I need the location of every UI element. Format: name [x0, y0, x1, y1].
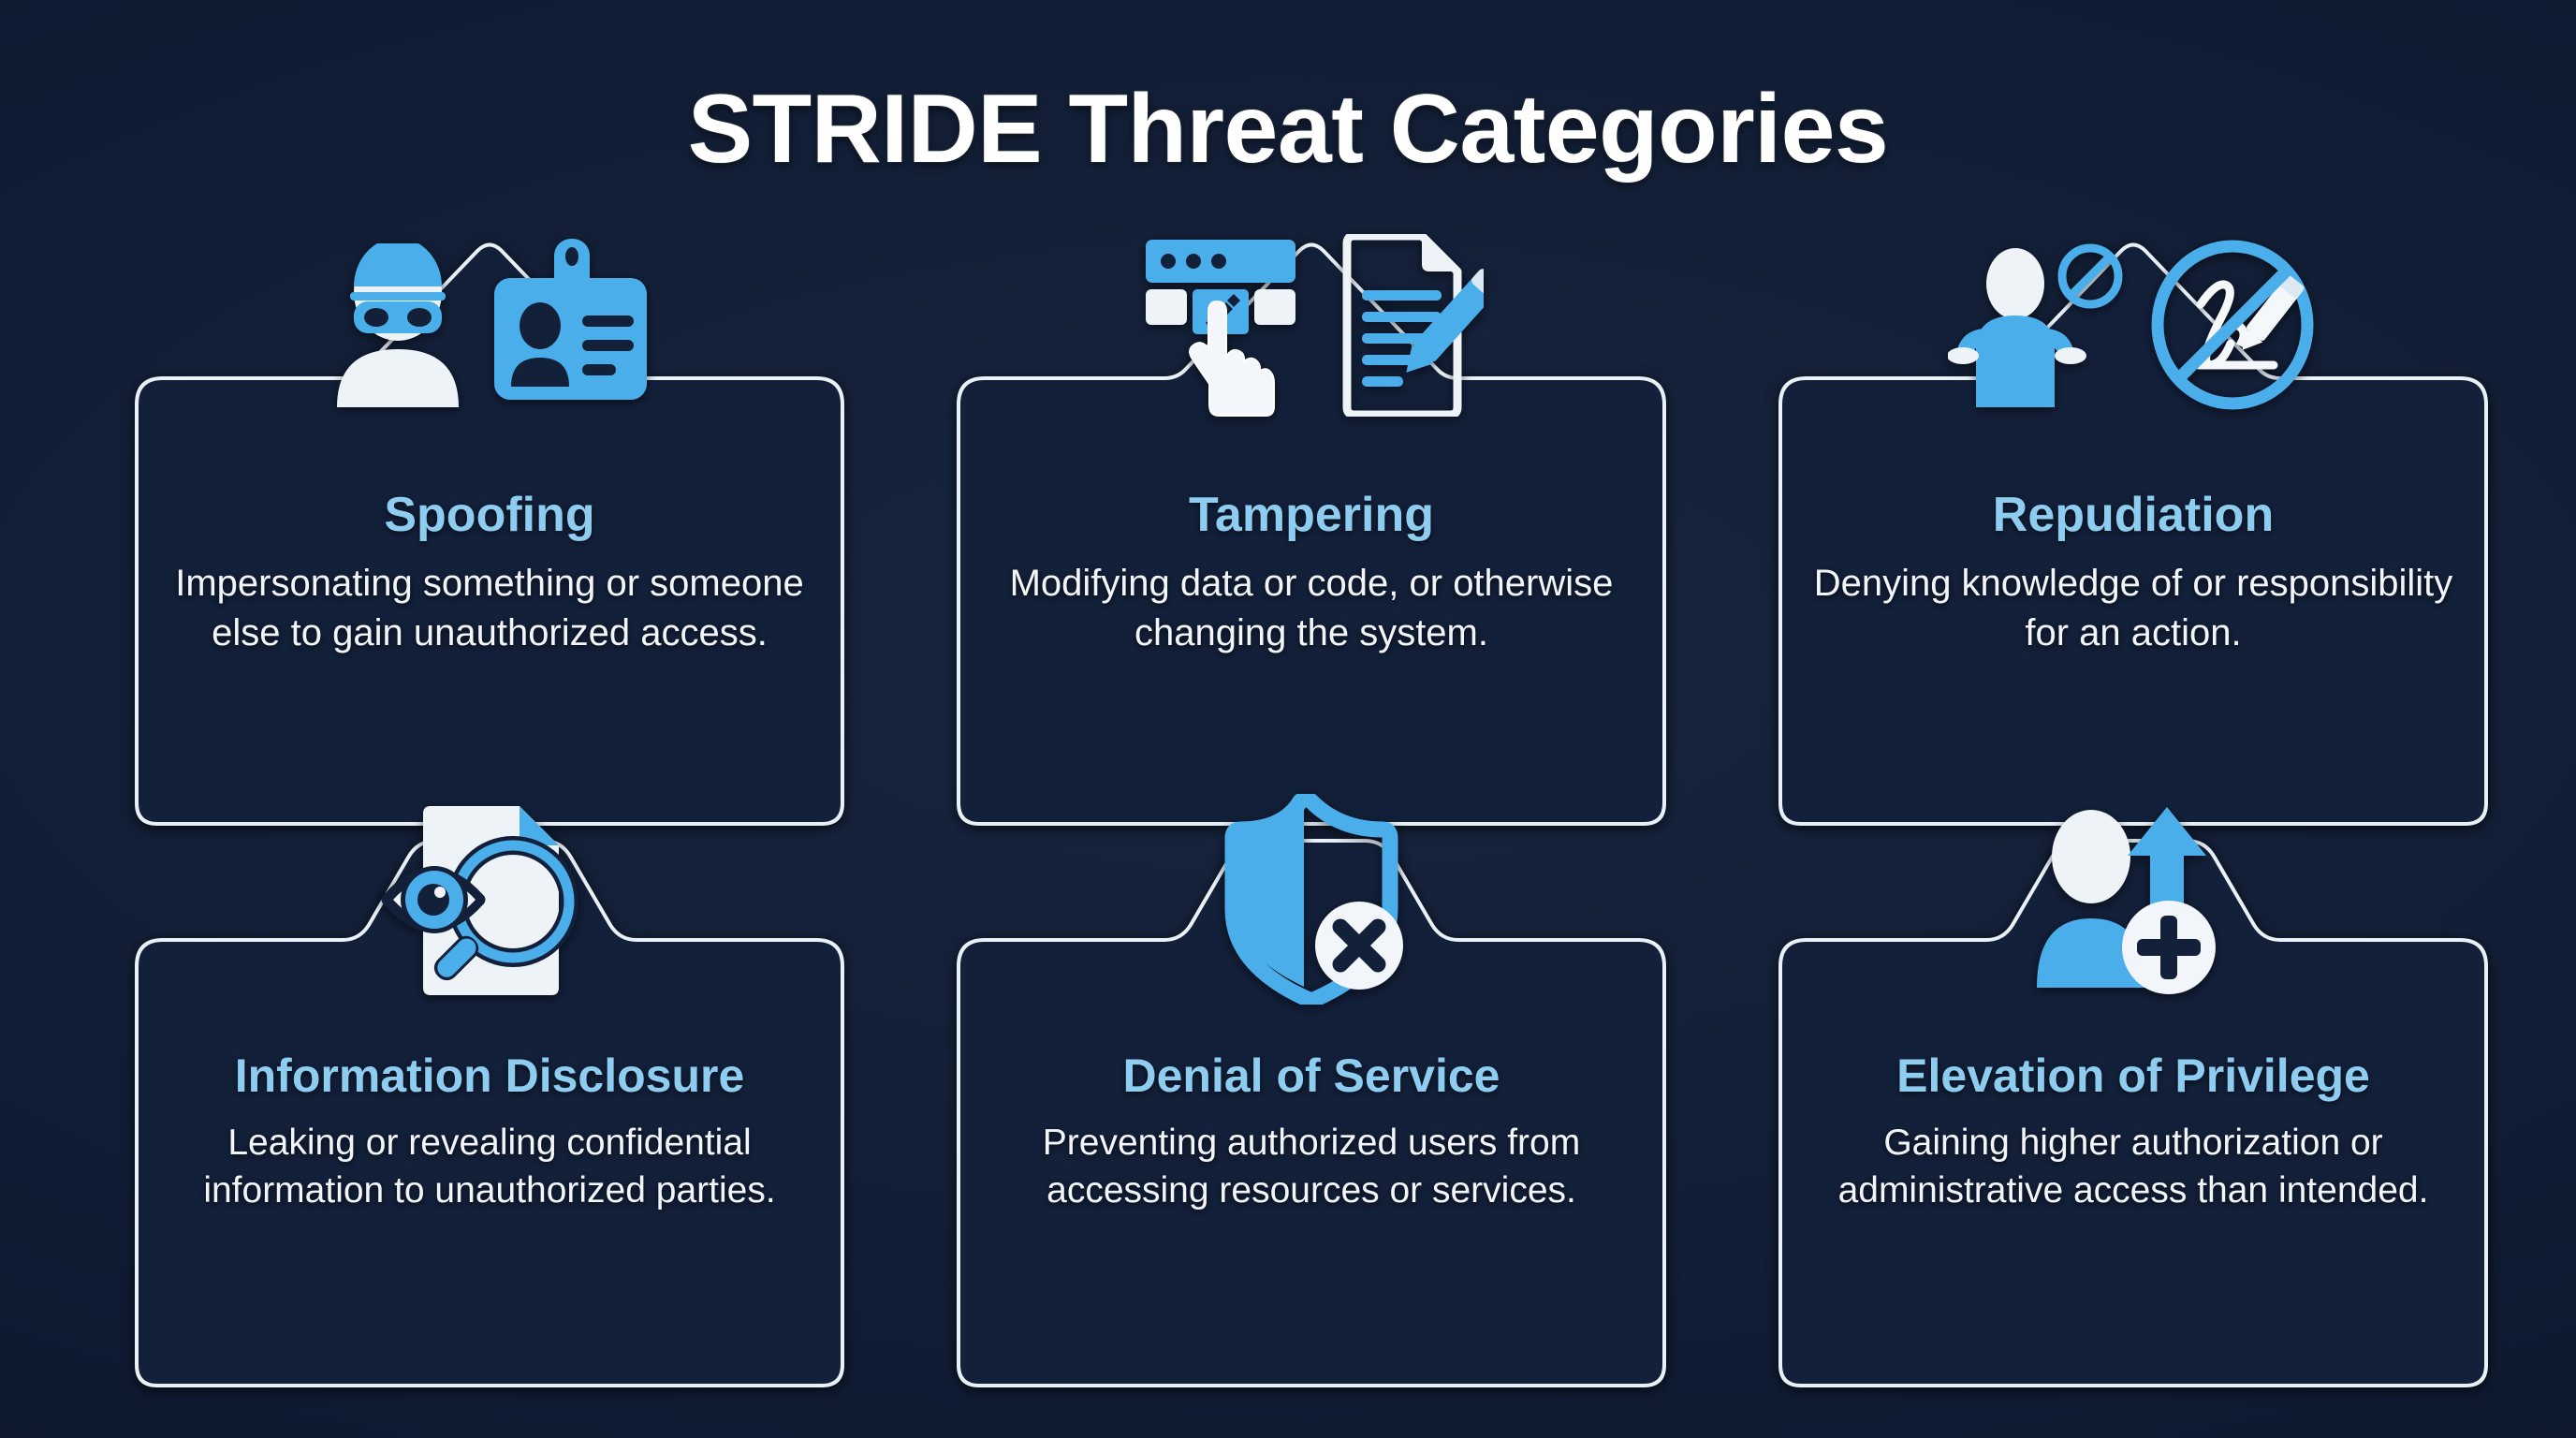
card-description-denial-of-service: Preventing authorized users from accessi…	[970, 1119, 1653, 1215]
card-tampering[interactable]: Tampering Modifying data or code, or oth…	[932, 281, 1690, 805]
card-information-disclosure[interactable]: Information Disclosure Leaking or reveal…	[110, 843, 869, 1367]
card-description-repudiation: Denying knowledge of or responsibility f…	[1792, 559, 2475, 658]
card-text-tampering: Tampering Modifying data or code, or oth…	[970, 489, 1653, 658]
card-title-denial-of-service: Denial of Service	[970, 1050, 1653, 1102]
card-title-repudiation: Repudiation	[1792, 489, 2475, 542]
card-description-spoofing: Impersonating something or someone else …	[148, 559, 831, 658]
page-title: STRIDE Threat Categories	[688, 81, 1889, 178]
card-text-information-disclosure: Information Disclosure Leaking or reveal…	[148, 1050, 831, 1215]
card-description-information-disclosure: Leaking or revealing confidential inform…	[148, 1119, 831, 1215]
card-text-spoofing: Spoofing Impersonating something or some…	[148, 489, 831, 658]
card-text-elevation-of-privilege: Elevation of Privilege Gaining higher au…	[1792, 1050, 2475, 1215]
card-title-spoofing: Spoofing	[148, 489, 831, 542]
card-title-information-disclosure: Information Disclosure	[148, 1050, 831, 1102]
page-title-container: STRIDE Threat Categories	[0, 81, 2576, 178]
infographic-root: STRIDE Threat Categories	[0, 0, 2576, 1438]
card-text-denial-of-service: Denial of Service Preventing authorized …	[970, 1050, 1653, 1215]
card-text-repudiation: Repudiation Denying knowledge of or resp…	[1792, 489, 2475, 658]
stride-card-grid: Spoofing Impersonating something or some…	[110, 281, 2469, 1386]
card-title-tampering: Tampering	[970, 489, 1653, 542]
card-repudiation[interactable]: Repudiation Denying knowledge of or resp…	[1754, 281, 2512, 805]
card-description-elevation-of-privilege: Gaining higher authorization or administ…	[1792, 1119, 2475, 1215]
card-elevation-of-privilege[interactable]: Elevation of Privilege Gaining higher au…	[1754, 843, 2512, 1367]
card-denial-of-service[interactable]: Denial of Service Preventing authorized …	[932, 843, 1690, 1367]
card-title-elevation-of-privilege: Elevation of Privilege	[1792, 1050, 2475, 1102]
card-spoofing[interactable]: Spoofing Impersonating something or some…	[110, 281, 869, 805]
card-description-tampering: Modifying data or code, or otherwise cha…	[970, 559, 1653, 658]
